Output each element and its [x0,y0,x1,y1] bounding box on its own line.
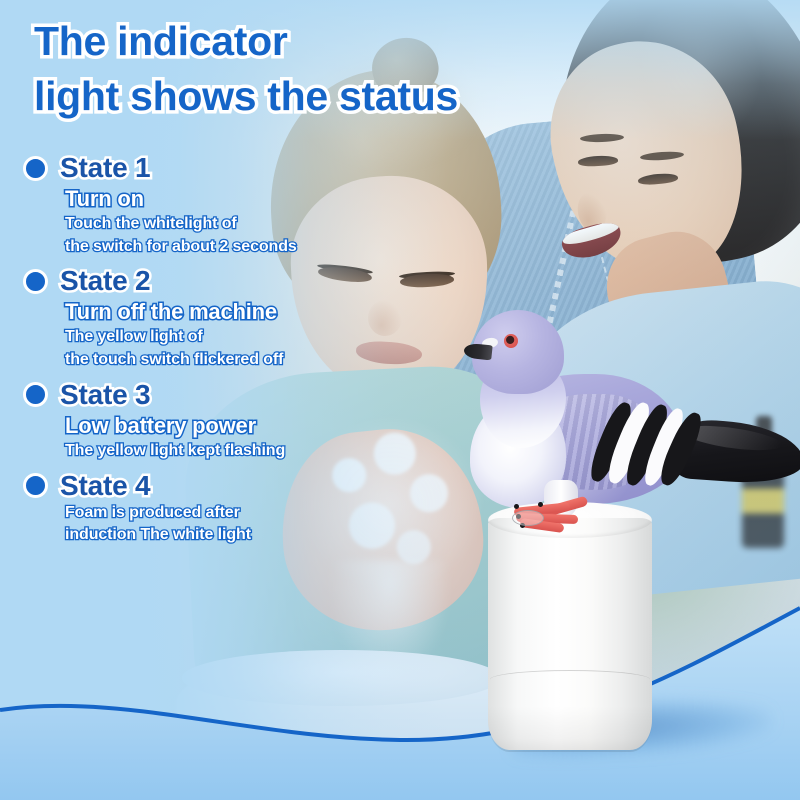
state-3-subtitle: Low battery power [65,413,378,439]
bullet-icon [23,473,48,498]
page-title: The indicator light shows the status [34,14,634,124]
state-item-4: State 4 Foam is produced after induction… [18,470,378,547]
bullet-icon [23,156,48,181]
bird-beak [463,343,492,361]
state-1-label: State 1 [60,152,150,184]
product-infographic-poster: The indicator light shows the status Sta… [0,0,800,800]
bullet-icon [23,382,48,407]
state-1-subtitle: Turn on [65,186,378,212]
indicator-light-button[interactable] [512,510,544,526]
state-3-label: State 3 [60,379,150,411]
state-2-heading: State 2 [18,265,378,297]
state-list: State 1 Turn on Touch the whitelight of … [18,152,378,554]
state-4-heading: State 4 [18,470,378,502]
bullet-icon [23,269,48,294]
state-item-1: State 1 Turn on Touch the whitelight of … [18,152,378,258]
state-1-heading: State 1 [18,152,378,184]
state-2-description: The yellow light of the touch switch fli… [65,326,378,371]
state-2-label: State 2 [60,265,150,297]
state-item-2: State 2 Turn off the machine The yellow … [18,265,378,371]
state-1-description: Touch the whitelight of the switch for a… [65,213,378,258]
state-item-3: State 3 Low battery power The yellow lig… [18,379,378,463]
product-image [452,296,800,776]
state-4-description: Foam is produced after induction The whi… [65,502,378,547]
state-4-label: State 4 [60,470,150,502]
bird-claw-3 [538,502,543,507]
bird-claw-1 [514,504,519,509]
dispenser-bottom-shading [488,706,652,752]
state-2-subtitle: Turn off the machine [65,299,378,325]
bird-eye [504,334,518,348]
state-3-description: The yellow light kept flashing [65,440,378,463]
dispenser-seam-line [490,670,650,689]
state-3-heading: State 3 [18,379,378,411]
